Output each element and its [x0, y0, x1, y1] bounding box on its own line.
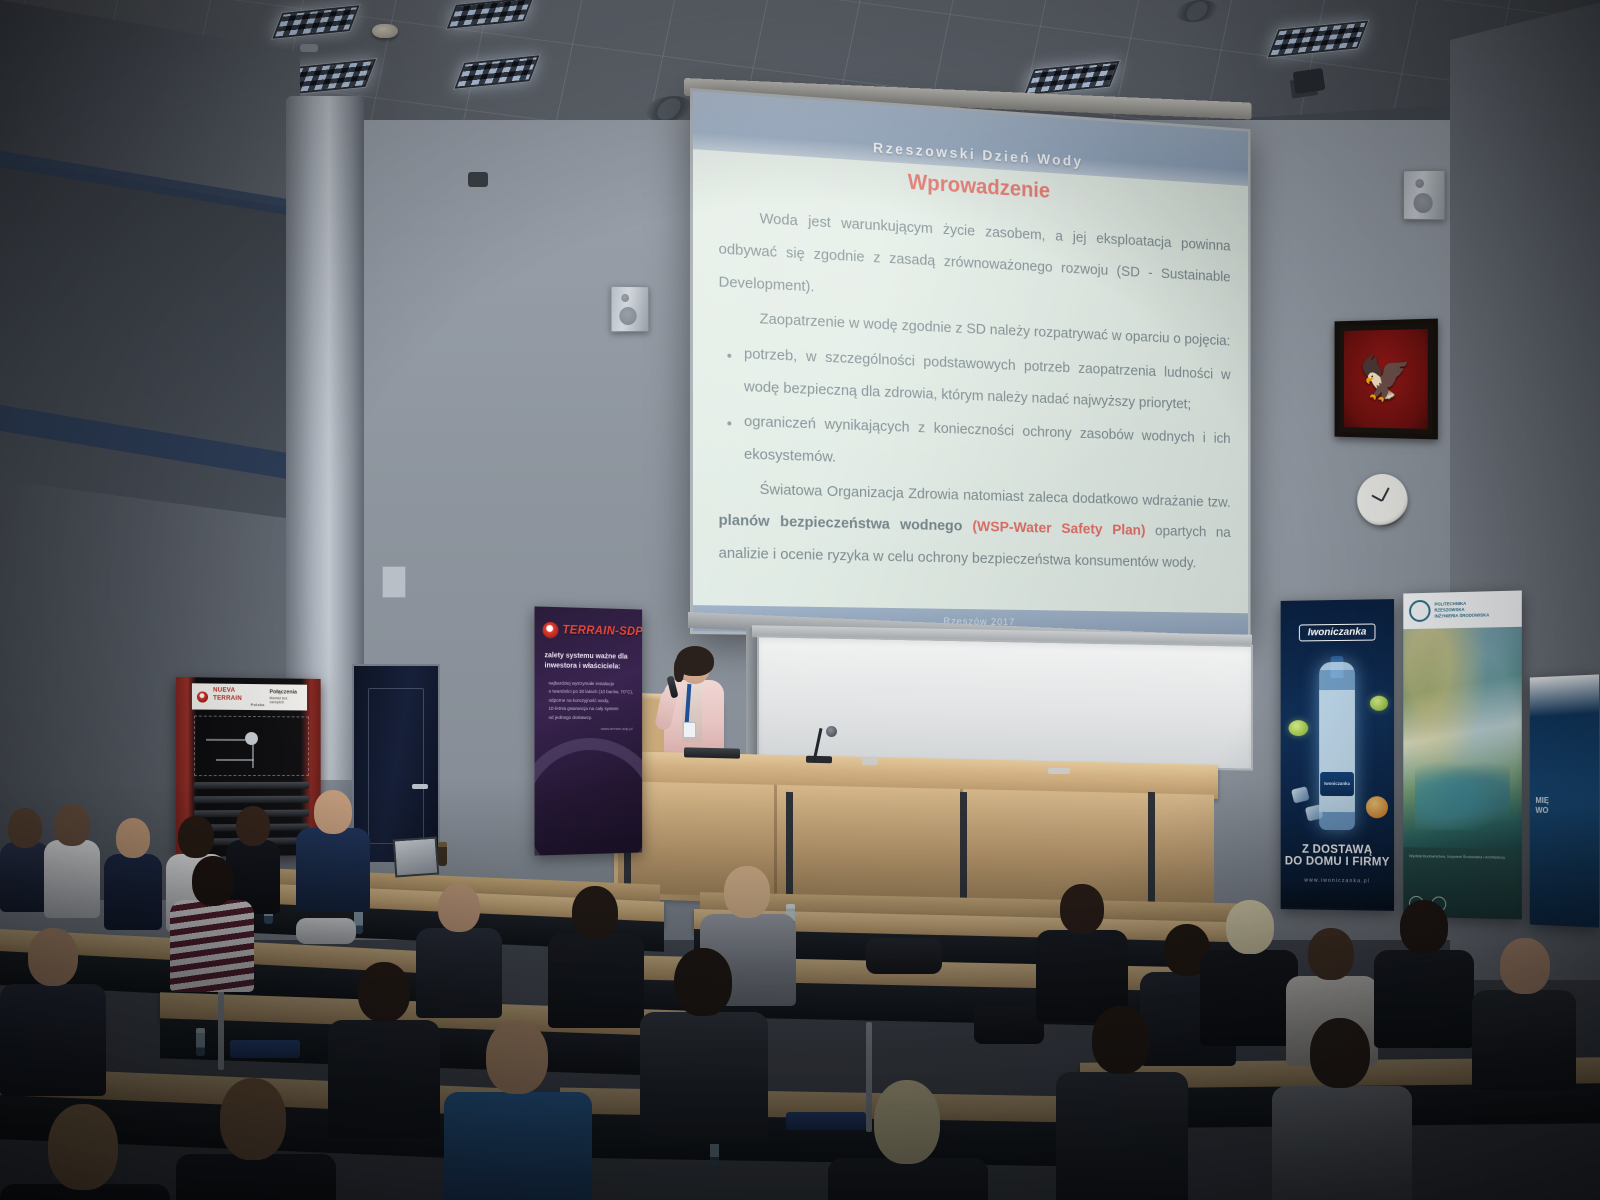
projection-screen: Rzeszowski Dzień Wody Wprowadzenie Woda … — [690, 88, 1251, 640]
audience-member — [104, 818, 162, 926]
desk-leg — [960, 792, 967, 910]
person-torso — [176, 1154, 336, 1200]
exhibit-claim: Połączenia Montaż bez narzędzi! — [270, 690, 303, 706]
presenter — [656, 650, 730, 762]
slide-header-text: Rzeszowski Dzień Wody — [873, 140, 1083, 171]
smoke-detector — [372, 24, 398, 38]
orange-slice-icon — [1366, 796, 1388, 818]
desk-item — [1048, 768, 1070, 774]
security-camera — [468, 172, 488, 187]
person-head — [1060, 884, 1104, 934]
speaker-tweeter — [621, 294, 629, 302]
exhibit-brand-text: NUEVA TERRAIN — [213, 686, 242, 701]
person-head — [724, 866, 770, 918]
audience-member — [328, 962, 440, 1132]
env-banner-header: POLITECHNIKA RZESZOWSKA INŻYNIERIA ŚRODO… — [1403, 590, 1522, 629]
national-emblem-frame: 🦅 — [1335, 319, 1438, 440]
person-head — [314, 790, 352, 834]
banner-far-right: MIĘ WO — [1530, 674, 1599, 927]
person-head — [1500, 938, 1550, 994]
far-banner-text: MIĘ WO — [1535, 796, 1548, 817]
backpack — [866, 938, 942, 974]
person-torso — [640, 1012, 768, 1144]
person-torso — [0, 984, 106, 1096]
slide-p3-wsp-highlight: (WSP-Water Safety Plan) — [972, 519, 1145, 540]
whiteboard — [757, 635, 1253, 771]
door-panel-inset — [368, 688, 424, 844]
wall-switch-plate[interactable] — [382, 566, 406, 598]
terrain-bullet: 10-letnia gwarancja na cały system — [549, 705, 635, 714]
slogan-line-1: Z DOSTAWĄ — [1281, 843, 1394, 857]
speaker-tweeter — [1415, 179, 1424, 188]
diagram-pipe — [206, 739, 245, 741]
person-head — [572, 886, 618, 940]
person-torso — [296, 828, 370, 912]
ceiling-sprinkler — [300, 44, 318, 52]
handbag — [974, 1006, 1044, 1044]
terrain-logo: TERRAIN-SDP — [543, 619, 637, 643]
person-torso — [444, 1092, 592, 1200]
microphone-icon — [826, 726, 837, 737]
org-line-3: INŻYNIERIA ŚRODOWISKA — [1434, 612, 1489, 619]
slide-bullet-list: potrzeb, w szczególności podstawowych po… — [719, 338, 1231, 486]
audience-member — [548, 886, 644, 1022]
person-head — [48, 1104, 118, 1190]
exhibit-claim-sub: Montaż bez narzędzi! — [270, 696, 303, 705]
banner-environmental-engineering: POLITECHNIKA RZESZOWSKA INŻYNIERIA ŚRODO… — [1403, 590, 1522, 919]
bottle-label: Iwoniczanka — [1320, 772, 1354, 796]
jacket-on-bench — [296, 918, 356, 944]
lime-slice-icon — [1289, 720, 1309, 736]
slogan-line-2: DO DOMU I FIRMY — [1281, 856, 1394, 870]
person-torso — [104, 854, 162, 930]
presenter-badge — [683, 722, 696, 738]
audience-member — [0, 1104, 170, 1200]
audience-member — [176, 1078, 336, 1200]
wall-loudspeaker — [611, 286, 649, 333]
audience-member — [444, 1020, 592, 1200]
audience-member — [1056, 1006, 1188, 1200]
iwoniczanka-slogan: Z DOSTAWĄ DO DOMU I FIRMY — [1281, 843, 1394, 869]
person-head — [178, 816, 214, 858]
slide-paragraph-3: Światowa Organizacja Zdrowia natomiast z… — [719, 472, 1231, 580]
audience-member — [44, 804, 100, 914]
person-head — [1308, 928, 1354, 980]
person-torso — [0, 842, 50, 912]
person-head — [1226, 900, 1274, 954]
person-head — [1092, 1006, 1150, 1074]
laptop[interactable] — [684, 747, 740, 758]
person-torso — [548, 934, 644, 1028]
terrain-brand-text: TERRAIN-SDP — [562, 624, 642, 638]
desk-leg — [1148, 792, 1155, 910]
env-footer-text: Wydział Budownictwa, Inżynierii Środowis… — [1409, 854, 1505, 860]
exhibit-brand: NUEVA TERRAIN Polska — [213, 686, 265, 707]
product-shelf — [194, 796, 309, 804]
presenter-hair — [676, 646, 714, 676]
speaker-cone — [1413, 193, 1432, 213]
folding-seat[interactable] — [230, 1040, 300, 1058]
terrain-headline: zalety systemu ważne dla inwestora i wła… — [545, 651, 635, 673]
env-banner-photo-collage — [1403, 627, 1522, 849]
person-head — [192, 856, 234, 906]
piping-diagram — [194, 716, 309, 777]
exhibit-brand-sub: Polska — [213, 702, 265, 708]
lecture-hall-photo: 🦅 Rzeszowski Dzień Wody Wprowadzenie Wod… — [0, 0, 1600, 1200]
person-head — [8, 808, 42, 848]
security-camera — [1293, 68, 1326, 94]
person-head — [358, 962, 410, 1022]
terrain-bullet-list: najbardziej wytrzymałe instalacje o twar… — [549, 680, 635, 723]
person-torso — [170, 900, 254, 992]
flame-icon — [197, 691, 208, 702]
audience-member — [1472, 938, 1576, 1084]
exhibit-claim-text: Połączenia — [270, 690, 297, 696]
person-head — [874, 1080, 940, 1164]
product-shelf — [194, 782, 309, 789]
person-head — [1400, 900, 1448, 954]
eagle-icon: 🦅 — [1359, 357, 1412, 402]
microphone-base — [806, 756, 832, 764]
person-head — [1310, 1018, 1370, 1088]
person-head — [236, 806, 270, 846]
audience-member — [828, 1080, 988, 1200]
person-head — [116, 818, 150, 858]
exhibit-board-header: NUEVA TERRAIN Polska Połączenia Montaż b… — [192, 683, 307, 710]
person-head — [54, 804, 90, 846]
person-head — [220, 1078, 286, 1160]
slide-body: Woda jest warunkującym życie zasobem, a … — [719, 201, 1231, 583]
slide-p3-bold: planów bezpieczeństwa wodnego — [719, 512, 973, 535]
env-banner-org: POLITECHNIKA RZESZOWSKA INŻYNIERIA ŚRODO… — [1434, 601, 1489, 620]
audience-member — [1036, 884, 1128, 1016]
audience-member — [1272, 1018, 1412, 1200]
terrain-url: www.terrain-sdp.pl — [601, 726, 633, 731]
national-emblem: 🦅 — [1344, 329, 1428, 429]
terrain-decorative-ring — [535, 738, 643, 856]
university-logo-icon — [1409, 600, 1430, 622]
person-torso — [1472, 990, 1576, 1090]
laptop-screen — [393, 837, 440, 878]
water-bottle — [196, 1028, 205, 1056]
person-torso — [1056, 1072, 1188, 1200]
audience-member — [640, 948, 768, 1138]
wall-loudspeaker — [1403, 170, 1445, 221]
diagram-pipe — [216, 759, 255, 761]
diagram-pipe — [252, 743, 254, 769]
person-torso — [328, 1020, 440, 1138]
person-head — [28, 928, 78, 986]
person-torso — [44, 840, 100, 918]
speaker-cone — [619, 307, 636, 325]
far-line-2: WO — [1535, 806, 1548, 816]
water-bottle — [438, 842, 447, 866]
audience-member — [0, 928, 106, 1088]
banner-iwoniczanka: Iwoniczanka Iwoniczanka Z DOSTAWĄ DO DOM… — [1281, 599, 1394, 911]
wall-clock — [1357, 474, 1407, 527]
person-torso — [1272, 1086, 1412, 1200]
ice-cube-icon — [1291, 786, 1310, 803]
person-head — [486, 1020, 548, 1094]
banner-terrain-sdp: TERRAIN-SDP zalety systemu ważne dla inw… — [535, 606, 643, 855]
far-line-1: MIĘ — [1535, 796, 1548, 806]
desk-item — [862, 758, 878, 765]
audience-member — [0, 808, 50, 908]
audience-member — [296, 790, 370, 908]
lime-slice-icon — [1370, 696, 1388, 711]
presentation-slide: Rzeszowski Dzień Wody Wprowadzenie Woda … — [693, 91, 1248, 637]
iwoniczanka-url: www.iwoniczanka.pl — [1281, 877, 1394, 885]
terrain-bullet: od jednego dostawcy. — [549, 714, 635, 723]
person-head — [438, 884, 480, 932]
iwoniczanka-logo: Iwoniczanka — [1299, 623, 1375, 641]
slide-p3-part-a: Światowa Organizacja Zdrowia natomiast z… — [760, 481, 1231, 511]
person-head — [674, 948, 732, 1016]
water-bottle-graphic — [1319, 662, 1355, 830]
audience-member — [170, 856, 254, 986]
flame-icon — [543, 622, 559, 639]
person-torso — [828, 1158, 988, 1200]
